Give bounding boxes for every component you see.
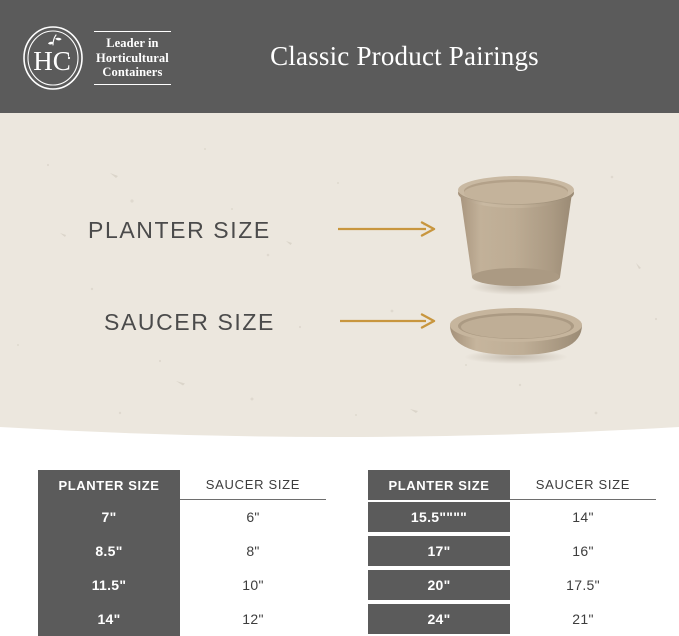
column-header-planter-size: PLANTER SIZE <box>368 470 510 500</box>
cell-saucer-size: 17.5" <box>510 568 656 602</box>
planter-arrow-icon <box>338 221 436 237</box>
table-header-row: PLANTER SIZE SAUCER SIZE <box>368 470 656 500</box>
cell-planter-size: 24" <box>368 604 510 634</box>
cell-saucer-size: 8" <box>180 534 326 568</box>
product-illustration-panel: PLANTER SIZE SAUCER SIZE <box>0 113 679 437</box>
page-header: HC Leader in Horticultural Containers Cl… <box>0 0 679 113</box>
cell-saucer-size: 12" <box>180 602 326 636</box>
cell-saucer-size: 6" <box>180 500 326 534</box>
table-row: 11.5" 10" <box>38 568 326 602</box>
table-row: 15.5"""" 14" <box>368 500 656 534</box>
cell-planter-size: 15.5"""" <box>368 502 510 532</box>
size-table-large: PLANTER SIZE SAUCER SIZE 15.5"""" 14" 17… <box>368 470 656 636</box>
cell-saucer-size: 14" <box>510 500 656 534</box>
column-header-planter-size: PLANTER SIZE <box>38 470 180 500</box>
column-header-saucer-size: SAUCER SIZE <box>510 470 656 500</box>
planter-size-callout-label: PLANTER SIZE <box>88 217 271 244</box>
table-body: 7" 6" 8.5" 8" 11.5" 10" 14" 12" <box>38 500 326 636</box>
cell-planter-size: 17" <box>368 536 510 566</box>
cell-planter-size: 8.5" <box>38 534 180 568</box>
column-header-saucer-size: SAUCER SIZE <box>180 470 326 500</box>
saucer-arrow-icon <box>340 313 436 329</box>
cell-planter-size: 11.5" <box>38 568 180 602</box>
page-title: Classic Product Pairings <box>0 0 679 113</box>
table-row: 14" 12" <box>38 602 326 636</box>
saucer-illustration <box>436 301 596 367</box>
table-body: 15.5"""" 14" 17" 16" 20" 17.5" 24" 21" <box>368 500 656 636</box>
planter-pot-illustration <box>436 163 596 298</box>
table-header-row: PLANTER SIZE SAUCER SIZE <box>38 470 326 500</box>
table-row: 8.5" 8" <box>38 534 326 568</box>
cell-saucer-size: 21" <box>510 602 656 636</box>
cell-saucer-size: 16" <box>510 534 656 568</box>
table-row: 20" 17.5" <box>368 568 656 602</box>
table-row: 17" 16" <box>368 534 656 568</box>
cell-planter-size: 14" <box>38 602 180 636</box>
cell-planter-size: 20" <box>368 570 510 600</box>
table-row: 24" 21" <box>368 602 656 636</box>
saucer-size-callout-label: SAUCER SIZE <box>104 309 275 336</box>
size-pairing-tables: PLANTER SIZE SAUCER SIZE 7" 6" 8.5" 8" 1… <box>0 470 679 636</box>
table-row: 7" 6" <box>38 500 326 534</box>
size-table-small: PLANTER SIZE SAUCER SIZE 7" 6" 8.5" 8" 1… <box>38 470 326 636</box>
cell-saucer-size: 10" <box>180 568 326 602</box>
cell-planter-size: 7" <box>38 500 180 534</box>
